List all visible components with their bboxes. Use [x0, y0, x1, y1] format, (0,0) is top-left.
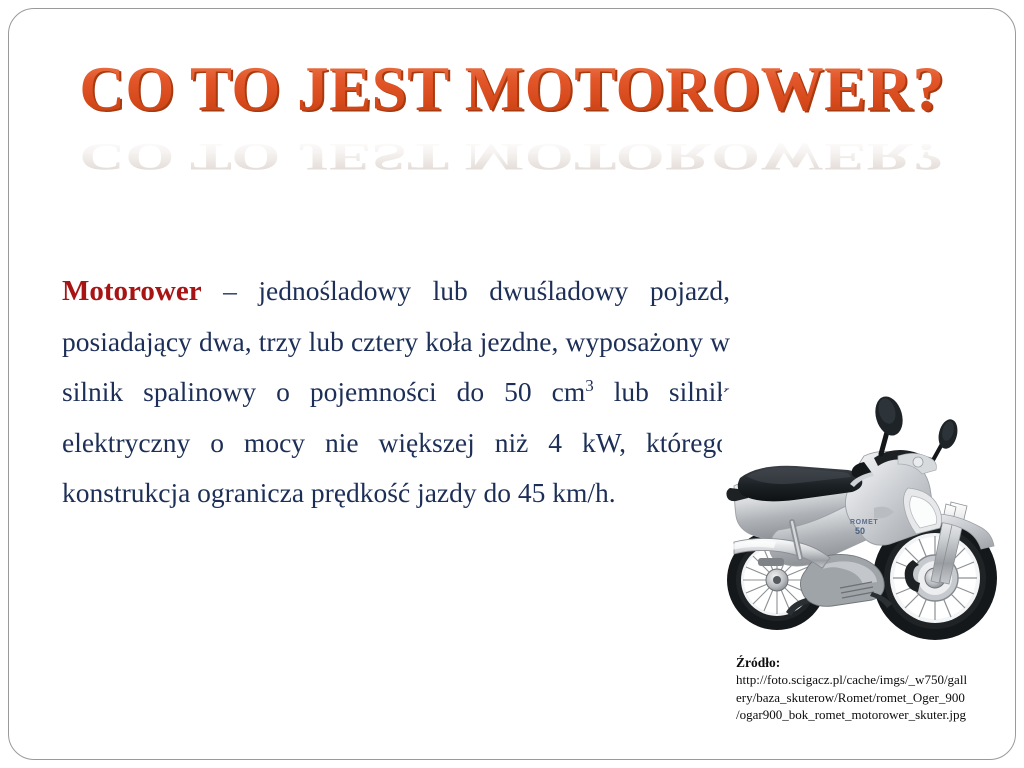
moped-photo: ROMET 50 [722, 392, 1007, 650]
slide-title-reflection: CO TO JEST MOTOROWER? [0, 137, 1024, 176]
slide-body-text: Motorower – jednośladowy lub dwuśladowy … [62, 266, 730, 519]
speedometer [913, 457, 923, 467]
page-title: CO TO JEST MOTOROWER? [0, 58, 1024, 121]
body-lead-term: Motorower [62, 275, 202, 307]
source-credit: Źródło: http://foto.scigacz.pl/cache/img… [736, 654, 1008, 724]
source-url-line-2[interactable]: ery/baza_skuterow/Romet/romet_Oger_900 [736, 689, 1008, 707]
source-url-line-1[interactable]: http://foto.scigacz.pl/cache/imgs/_w750/… [736, 671, 1008, 689]
moped-badge-cc: 50 [855, 526, 865, 536]
slide-title-group: CO TO JEST MOTOROWER? CO TO JEST MOTOROW… [0, 58, 1024, 173]
moped-badge: ROMET [850, 519, 878, 526]
presentation-slide: CO TO JEST MOTOROWER? CO TO JEST MOTOROW… [0, 0, 1024, 768]
body-superscript-cubic: 3 [585, 376, 594, 395]
source-label: Źródło: [736, 654, 1008, 671]
source-url-line-3[interactable]: /ogar900_bok_romet_motorower_skuter.jpg [736, 706, 1008, 724]
